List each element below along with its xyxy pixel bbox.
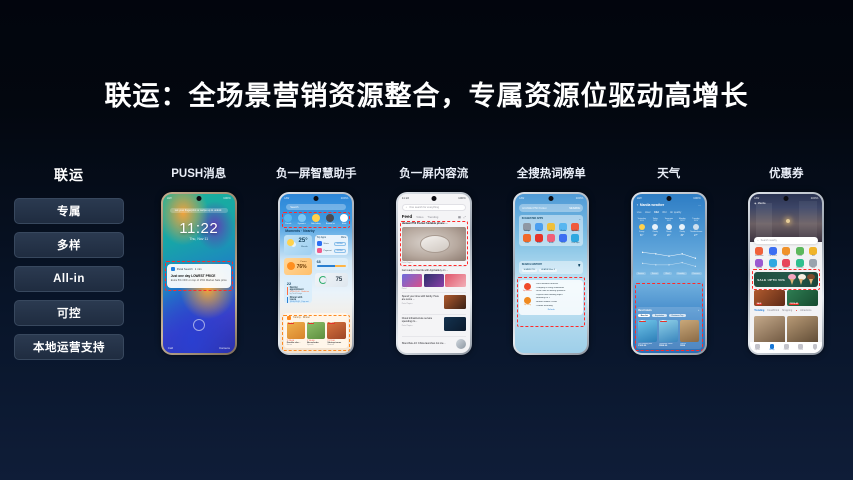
sidebar-item-local-support[interactable]: 本地运营支持 xyxy=(14,334,124,360)
quick-icon-parcels[interactable]: Parcels xyxy=(284,214,292,226)
quick-icon-label: Parcels xyxy=(285,223,291,225)
history-chip[interactable]: HUAWEI P50 xyxy=(522,269,537,272)
day-temp: 27° xyxy=(690,234,702,237)
hotels-title: Best hotels xyxy=(638,309,651,312)
tab-shopping[interactable]: Shopping xyxy=(782,309,792,312)
search-history-panel: SEARCH HISTORY 🗑 HUAWEI P50 HUAWEI Mate … xyxy=(519,261,583,274)
trending-items: Local weather forecast Company's hiring … xyxy=(535,283,581,297)
flame-icon xyxy=(524,283,531,290)
gallery-icon xyxy=(547,223,555,231)
event-place: by Tech Design xyxy=(290,293,309,295)
quick-icon-dynamics[interactable]: Dynamics xyxy=(298,214,306,226)
app-name: Payment xyxy=(324,250,332,252)
food-card[interactable]: SALE ¥ 23.00 Double che... Bacon xyxy=(287,322,305,346)
app-gallery[interactable]: Gallery xyxy=(546,223,557,233)
category-car-service[interactable]: Car service xyxy=(767,247,779,257)
chevron-right-icon[interactable]: › xyxy=(698,309,699,312)
column-content-feed: 负一屏内容流 11:22 100% ⌕ One search for every… xyxy=(375,165,493,375)
top-apps-more[interactable]: More xyxy=(341,237,346,239)
hotel-card[interactable]: SALE JW Holiday park $102.00 xyxy=(638,320,657,347)
push-notification-card[interactable]: Petal Search 1 min Just one day LOWEST P… xyxy=(167,264,231,288)
nearby-search-input[interactable]: ⌕ Search nearby xyxy=(754,237,818,244)
delete-icon[interactable]: 🗑 xyxy=(578,264,581,267)
tab-video[interactable]: Video xyxy=(416,215,423,219)
hotels-header: Best hotels › xyxy=(638,309,699,312)
column-label: PUSH消息 xyxy=(171,165,226,181)
list-item[interactable]: Scan code to identify products xyxy=(535,290,581,292)
app-label: Weather xyxy=(560,231,566,232)
quick-icon-ride-hailing[interactable]: Ride hailing xyxy=(311,214,320,226)
phone-screen: HW 100% ‹ Manila weather ⋯ Live Hour 10d… xyxy=(633,194,705,353)
pharmacy-icon xyxy=(796,259,804,267)
quick-icon-remind-list[interactable]: Remind list xyxy=(326,214,335,226)
ice-cream-icon xyxy=(807,274,815,285)
books-icon xyxy=(535,234,543,242)
tab-30d[interactable]: 30d xyxy=(662,211,666,214)
battery-card[interactable]: Power 76% xyxy=(284,258,311,275)
ice-cream-group xyxy=(788,274,815,285)
app-health[interactable]: Health xyxy=(546,234,557,244)
status-left: HW xyxy=(519,196,524,200)
food-sub: Spanish xyxy=(307,344,325,346)
day-cond: Thundershower xyxy=(690,231,702,233)
more-icon xyxy=(809,259,817,267)
item-title: Get ready to live life with AppGallery o… xyxy=(402,269,466,272)
temperature-trend-chart xyxy=(636,248,702,270)
status-right: 100% xyxy=(693,196,701,200)
street-lamp-glow xyxy=(786,219,790,223)
settings-icon xyxy=(523,223,531,231)
tab-trending[interactable]: Trending xyxy=(754,309,764,312)
promo-ad-card[interactable]: POPULAR xyxy=(787,290,818,306)
food-card[interactable]: SALE ¥ 16.00 Bruschetta Spanish xyxy=(307,322,325,346)
quick-icon-label: Ride hailing xyxy=(311,223,320,225)
sale-badge: SALE xyxy=(639,321,646,322)
item-meta: Petal Topics xyxy=(402,325,442,327)
feed-toolbar: ▦ ⤢ xyxy=(458,215,466,219)
showcase-columns: PUSH消息 HW 100% Let your fingerprint or s… xyxy=(140,165,846,375)
nav-label: Routes xyxy=(784,350,789,351)
item-meta: Petal xyxy=(402,288,466,290)
saved-icon xyxy=(798,344,803,349)
nav-saved[interactable]: Saved xyxy=(793,342,807,353)
day-temp: 30° xyxy=(676,234,688,237)
hotel-image: SALE xyxy=(659,320,678,342)
best-hotels-card[interactable]: Best hotels › New list Reputation Christ… xyxy=(636,307,702,350)
app-label: AppGallery xyxy=(571,231,579,232)
food-image: SALE xyxy=(307,322,325,339)
forecast-day[interactable]: Monday 10/13 Cloudy 30° xyxy=(676,218,688,237)
tab-food-drink[interactable]: Food/Drink xyxy=(767,309,779,312)
column-global-search: 全搜热词榜单 HW 100% HUAWEI P50 Pocket SEARCH … xyxy=(493,165,611,375)
category-cinema[interactable]: Cinema xyxy=(767,259,779,269)
item-title: Spend your time with family. Here are so… xyxy=(402,295,442,302)
day-temp: 30° xyxy=(649,234,661,237)
timer-card[interactable]: 75 xyxy=(315,273,349,287)
forecast-day[interactable]: Yesterday 10/10 Sunny 31° xyxy=(636,218,648,237)
calendar-card[interactable]: 22 Dentist appointment 10:00-11:00 · Med… xyxy=(284,278,311,303)
hiboard-column-right: Top Apps More Music INSTALL Payment xyxy=(315,235,349,303)
chip-pressure[interactable]: Pressure xyxy=(691,272,702,275)
sidebar-title: 联运 xyxy=(14,165,124,185)
ice-cream-icon xyxy=(788,274,796,285)
food-sub: Mexican xyxy=(327,344,345,346)
sidebar-item-label: 多样 xyxy=(57,237,81,253)
top-searches-badge: Top searches xyxy=(522,283,532,297)
phone-mockup-weather[interactable]: HW 100% ‹ Manila weather ⋯ Live Hour 10d… xyxy=(631,192,707,355)
chevron-down-icon[interactable]: ⌄ xyxy=(579,218,581,221)
brightness-slider[interactable] xyxy=(317,265,346,267)
weather-card[interactable]: 25° Manila xyxy=(284,235,311,255)
nav-routes[interactable]: Routes xyxy=(779,342,793,353)
hotel-card[interactable]: SALE Volutinae Swiss $899.00 xyxy=(659,320,678,347)
column-label: 全搜热词榜单 xyxy=(517,165,586,181)
camera-notch-icon xyxy=(549,196,554,201)
food-recommendation-card[interactable]: Yummy · Dinner SALE ¥ 23.00 Double che..… xyxy=(284,313,348,348)
trending-row: Top searches Local weather forecast Comp… xyxy=(522,283,580,297)
app-weather[interactable]: Weather xyxy=(558,223,569,233)
day-date: 10/14 xyxy=(690,220,702,222)
notification-time: 1 min xyxy=(195,267,202,271)
hotels-filters: New list Reputation Christmas Trip xyxy=(638,314,699,317)
cloud-icon xyxy=(652,224,658,230)
item-meta: Petal Topics xyxy=(402,303,442,305)
forecast-day[interactable]: Today 10/11 Cloudy 30° xyxy=(649,218,661,237)
cinema-icon xyxy=(769,259,777,267)
phone-mockup-feed[interactable]: 11:22 100% ⌕ One search for everything F… xyxy=(396,192,472,355)
app-settings[interactable]: Settings xyxy=(522,223,533,233)
explore-icon xyxy=(755,344,760,349)
category-mall[interactable]: Mall xyxy=(807,247,819,257)
coupon-banner[interactable]: SALE UPTO 50% xyxy=(754,272,818,287)
item-title: Cloud infrastructure service spending ri… xyxy=(402,317,442,324)
sidebar-item-diverse[interactable]: 多样 xyxy=(14,232,124,258)
list-item[interactable]: Local weather forecast xyxy=(535,283,581,285)
hotel-card[interactable]: Dario's $699 xyxy=(680,320,699,347)
hiboard-card-grid: 25° Manila Power 76% 22 Dentist appointm… xyxy=(284,235,348,303)
weather-detail-chips: Sunrise Sunset Wind Humidity Pressure xyxy=(636,272,702,275)
promo-ad-card[interactable]: SALE xyxy=(754,290,785,306)
sidebar-item-exclusive[interactable]: 专属 xyxy=(14,198,124,224)
category-label: Coffee xyxy=(797,256,802,257)
top-app-row[interactable]: Music INSTALL xyxy=(317,241,347,246)
thumb xyxy=(424,274,444,287)
lockscreen-time: 11:22 xyxy=(163,220,235,237)
feed-tabs: Feed Video Trending ▦ ⤢ xyxy=(402,214,466,219)
forecast-day[interactable]: Tomorrow 10/12 Cloudy 29° xyxy=(663,218,675,237)
phone-mockup-hiboard[interactable]: HW 100% Search Parcels Dynamics R xyxy=(278,192,354,355)
list-item[interactable]: HarmonyOS 2 xyxy=(535,297,581,299)
lockscreen-date: Thu, Nov 11 xyxy=(163,237,235,241)
menu-icon[interactable]: ⋯ xyxy=(698,203,701,207)
new-dot-icon xyxy=(796,310,798,312)
list-item[interactable]: Huawei Mobile Cloud xyxy=(535,301,581,303)
sale-badge: SALE xyxy=(328,323,334,324)
music-icon xyxy=(340,214,348,222)
chip-sunrise[interactable]: Sunrise xyxy=(636,272,646,275)
feed-item-appgallery[interactable]: Get ready to live life with AppGallery o… xyxy=(402,269,466,290)
install-button[interactable]: INSTALL xyxy=(334,242,347,246)
feed-item-family[interactable]: Spend your time with family. Here are so… xyxy=(402,295,466,309)
category-label: Nightlife xyxy=(756,268,762,269)
suggested-apps-grid: Settings Files Gallery Weather AppGaller… xyxy=(522,223,581,244)
content-card[interactable] xyxy=(787,316,818,344)
day-cond: Cloudy xyxy=(663,231,675,233)
feed-item-cloud[interactable]: Cloud infrastructure service spending ri… xyxy=(402,317,466,331)
search-placeholder: Search nearby xyxy=(761,239,777,242)
weather-temp: 25° xyxy=(299,238,308,244)
app-name: Music xyxy=(324,243,329,245)
chip-humidity[interactable]: Humidity xyxy=(676,272,687,275)
category-row: Nightlife Cinema Groceries Pharmacy More xyxy=(753,259,819,269)
app-label: Video xyxy=(525,243,529,244)
feed-hero-article[interactable]: Huawei P50 Pocket foldable phone ... Pet… xyxy=(402,222,466,264)
status-right: 100% xyxy=(811,196,819,200)
tab-attractions[interactable]: Attractions xyxy=(800,309,811,312)
calendar-event: Dentist appointment 10:00-11:00 · Medici… xyxy=(287,287,309,295)
camera-notch-icon xyxy=(314,196,319,201)
cloud-icon xyxy=(679,224,685,230)
app-music[interactable]: Music xyxy=(558,234,569,244)
food-header: Yummy · Dinner xyxy=(287,316,346,320)
status-right: 100% xyxy=(458,196,466,200)
phone-screen: HW 100% HUAWEI P50 Pocket SEARCH SUGGEST… xyxy=(515,194,587,353)
food-card[interactable]: SALE ¥ 27.00 Shrimp tacos Mexican xyxy=(327,322,345,346)
suggested-apps-panel: SUGGESTED APPS ⌄ Settings Files Gallery … xyxy=(519,215,583,246)
sidebar-item-label: 本地运营支持 xyxy=(33,339,105,355)
weather-tabs: Live Hour 10d 30d Air quality xyxy=(637,211,701,214)
app-label: Petal Maps xyxy=(571,243,579,244)
me-icon xyxy=(813,344,818,349)
app-files[interactable]: Files xyxy=(534,223,545,233)
groceries-icon xyxy=(782,259,790,267)
calendar-day: 22 xyxy=(287,281,309,286)
sun-icon xyxy=(639,224,645,230)
trending-items: HarmonyOS 2 Huawei Mobile Cloud Carbon n… xyxy=(535,297,581,308)
app-video[interactable]: Video xyxy=(522,234,533,244)
day-date: 10/13 xyxy=(676,220,688,222)
category-pharmacy[interactable]: Pharmacy xyxy=(794,259,806,269)
phone-screen: HW 100% Let your fingerprint or swipe up… xyxy=(163,194,235,353)
hiboard-column-left: 25° Manila Power 76% 22 Dentist appointm… xyxy=(284,235,311,303)
day-cond: Cloudy xyxy=(649,231,661,233)
search-icon: ⌕ xyxy=(406,206,407,209)
item-title: Shenzhou-13: China launches 1st cre... xyxy=(402,342,454,345)
thumb xyxy=(402,274,422,287)
column-coupon: 优惠券 HW 100% ◈ Manila ⌕ Search nearby xyxy=(728,165,846,375)
expand-icon[interactable]: ⤢ xyxy=(463,215,465,219)
page-title: 联运：全场景营销资源整合，专属资源位驱动高增长 xyxy=(0,74,853,113)
day-temp: 31° xyxy=(636,234,648,237)
category-coffee[interactable]: Coffee xyxy=(794,247,806,257)
sale-badge: SALE xyxy=(660,321,667,322)
status-right: 100% xyxy=(576,196,584,200)
category-hotel[interactable]: Hotel xyxy=(780,247,792,257)
filter-new-list[interactable]: New list xyxy=(638,314,650,317)
badge-label: Top selling xyxy=(524,305,531,307)
day-temp: 29° xyxy=(663,234,675,237)
nav-label: Me xyxy=(814,350,816,351)
battery-icon xyxy=(287,262,295,270)
quick-icon-music[interactable]: Music xyxy=(340,214,348,226)
sidebar: 联运 专属 多样 All-in 可控 本地运营支持 xyxy=(14,165,124,368)
appgallery-icon xyxy=(571,223,579,231)
weather-header: ‹ Manila weather ⋯ xyxy=(637,203,701,207)
app-books[interactable]: Books xyxy=(534,234,545,244)
item-thumbs xyxy=(402,274,466,287)
trending-row: Top selling HarmonyOS 2 Huawei Mobile Cl… xyxy=(522,297,580,308)
list-item[interactable]: Company's hiring sentiments xyxy=(535,287,581,289)
hiboard-section-title: Moments · Nearby xyxy=(285,229,314,233)
status-left: HW xyxy=(637,196,642,200)
forecast-days: Yesterday 10/10 Sunny 31° Today 10/11 Cl… xyxy=(636,218,702,237)
phone-shortcut-icon[interactable]: Call xyxy=(168,346,173,350)
weather-icon xyxy=(559,223,567,231)
list-item[interactable]: Carbon neutrality xyxy=(535,305,581,307)
app-appgallery[interactable]: AppGallery xyxy=(570,223,581,233)
routes-icon xyxy=(784,344,789,349)
global-search-input[interactable]: HUAWEI P50 Pocket SEARCH xyxy=(519,204,583,212)
day-date: 10/10 xyxy=(636,220,648,222)
nearby-icon xyxy=(770,344,775,349)
sale-badge: SALE xyxy=(288,323,294,324)
category-restaurants[interactable]: Restaurants xyxy=(753,247,765,257)
phone-mockup-push[interactable]: HW 100% Let your fingerprint or swipe up… xyxy=(161,192,237,355)
search-button[interactable]: SEARCH xyxy=(569,207,580,210)
column-label: 负一屏内容流 xyxy=(399,165,468,181)
nav-nearby[interactable]: Nearby xyxy=(765,342,779,353)
hiboard-search-input[interactable]: Search xyxy=(286,204,346,210)
food-sub: Bacon xyxy=(287,344,305,346)
app-label: Music xyxy=(561,243,565,244)
sidebar-item-allin[interactable]: All-in xyxy=(14,266,124,292)
location-indicator[interactable]: ◈ Manila xyxy=(754,202,765,205)
category-label: Car service xyxy=(769,256,777,257)
fingerprint-icon[interactable] xyxy=(193,319,205,331)
phone-mockup-search[interactable]: HW 100% HUAWEI P50 Pocket SEARCH SUGGEST… xyxy=(513,192,589,355)
trending-list-panel[interactable]: Top searches Local weather forecast Comp… xyxy=(519,280,583,315)
notification-body: Extra 5% OFF on top of 15% Market Sale p… xyxy=(171,279,227,283)
hotel-card-row: SALE JW Holiday park $102.00 SALE Voluti… xyxy=(638,320,699,347)
hotel-image: SALE xyxy=(638,320,657,342)
tab-10d[interactable]: 10d xyxy=(654,211,658,214)
quick-icon-label: Remind list xyxy=(326,223,335,225)
grid-icon[interactable]: ▦ xyxy=(458,215,461,219)
dynamics-icon xyxy=(298,214,306,222)
content-card[interactable] xyxy=(754,316,785,344)
status-right: 100% xyxy=(341,196,349,200)
panel-title: SUGGESTED APPS xyxy=(522,218,543,221)
filter-reputation[interactable]: Reputation xyxy=(652,314,666,317)
app-petal-maps[interactable]: Petal Maps xyxy=(570,234,581,244)
tab-trending[interactable]: Trending xyxy=(427,215,438,219)
category-grid: Restaurants Car service Hotel Coffee Mal… xyxy=(753,247,819,271)
list-item[interactable]: Popular and trending topics xyxy=(535,294,581,296)
tab-air-quality[interactable]: Air quality xyxy=(670,211,681,214)
status-left: HW xyxy=(284,196,289,200)
petal-maps-icon xyxy=(571,234,579,242)
tab-feed[interactable]: Feed xyxy=(402,214,413,219)
sidebar-item-label: 专属 xyxy=(57,203,81,219)
tab-live[interactable]: Live xyxy=(637,211,642,214)
phone-screen: 11:22 100% ⌕ One search for everything F… xyxy=(398,194,470,353)
food-icon xyxy=(287,316,291,320)
unlock-hint: Let your fingerprint or swipe up to unlo… xyxy=(170,208,228,213)
category-label: Pharmacy xyxy=(796,268,803,269)
column-push: PUSH消息 HW 100% Let your fingerprint or s… xyxy=(140,165,258,375)
refresh-button[interactable]: Refresh xyxy=(522,309,580,311)
top-app-row[interactable]: Payment INSTALL xyxy=(317,248,347,253)
brightness-value: 68 xyxy=(317,260,347,264)
hotel-image xyxy=(680,320,699,342)
chip-wind[interactable]: Wind xyxy=(663,272,671,275)
app-label: Gallery xyxy=(549,231,554,232)
music-icon xyxy=(559,234,567,242)
coffee-icon xyxy=(796,247,804,255)
calendar-event: Dinner with Laura 18:00-20:00 · Dine out… xyxy=(287,297,309,304)
app-label: Files xyxy=(537,231,540,232)
nav-explore[interactable]: Explore xyxy=(750,342,764,353)
restaurant-icon xyxy=(755,247,763,255)
day-cond: Sunny xyxy=(636,231,648,233)
mall-icon xyxy=(809,247,817,255)
install-button[interactable]: INSTALL xyxy=(334,249,347,253)
badge-label: Top searches xyxy=(523,291,532,293)
remind-list-icon xyxy=(326,214,334,222)
history-chip[interactable]: HUAWEI Mate X xyxy=(539,269,557,272)
brightness-card[interactable]: 68 xyxy=(315,258,349,270)
app-icon-music xyxy=(317,241,322,246)
timer-value: 75 xyxy=(336,277,343,283)
thumb xyxy=(444,317,466,331)
promo-ad-row: SALE POPULAR xyxy=(754,290,818,306)
camera-notch-icon xyxy=(784,196,789,201)
sidebar-item-label: 可控 xyxy=(57,305,81,321)
camera-shortcut-icon[interactable]: Camera xyxy=(219,346,230,350)
category-more[interactable]: More xyxy=(807,259,819,269)
popular-badge: POPULAR xyxy=(789,303,799,305)
category-nightlife[interactable]: Nightlife xyxy=(753,259,765,269)
nav-label: Explore xyxy=(755,350,760,351)
top-apps-card[interactable]: Top Apps More Music INSTALL Payment xyxy=(315,235,349,255)
phone-mockup-coupon[interactable]: HW 100% ◈ Manila ⌕ Search nearby Restaur… xyxy=(748,192,824,355)
hero-image xyxy=(402,227,466,261)
hero-meta: Petal Topics xyxy=(402,262,466,264)
back-icon[interactable]: ‹ xyxy=(637,203,638,207)
tab-hour[interactable]: Hour xyxy=(645,211,651,214)
sidebar-item-controllable[interactable]: 可控 xyxy=(14,300,124,326)
filter-christmas-trip[interactable]: Christmas Trip xyxy=(669,314,686,317)
app-label: Settings xyxy=(524,231,530,232)
timer-ring-icon xyxy=(319,276,327,284)
nightlife-icon xyxy=(755,259,763,267)
column-hiboard: 负一屏智慧助手 HW 100% Search Parcels xyxy=(258,165,376,375)
feed-item-shenzhou[interactable]: Shenzhou-13: China launches 1st cre... xyxy=(402,339,466,349)
health-icon xyxy=(547,234,555,242)
parcel-icon xyxy=(284,214,292,222)
camera-notch-icon xyxy=(431,196,436,201)
category-groceries[interactable]: Groceries xyxy=(780,259,792,269)
forecast-day[interactable]: Tuesday 10/14 Thundershower 27° xyxy=(690,218,702,237)
feed-search-input[interactable]: ⌕ One search for everything xyxy=(402,204,466,211)
files-icon xyxy=(535,223,543,231)
search-value: HUAWEI P50 Pocket xyxy=(522,207,546,210)
column-label: 天气 xyxy=(657,165,680,181)
nav-me[interactable]: Me xyxy=(808,342,822,353)
app-icon xyxy=(171,267,175,271)
hotel-price: $699 xyxy=(680,345,699,347)
chip-sunset[interactable]: Sunset xyxy=(650,272,660,275)
